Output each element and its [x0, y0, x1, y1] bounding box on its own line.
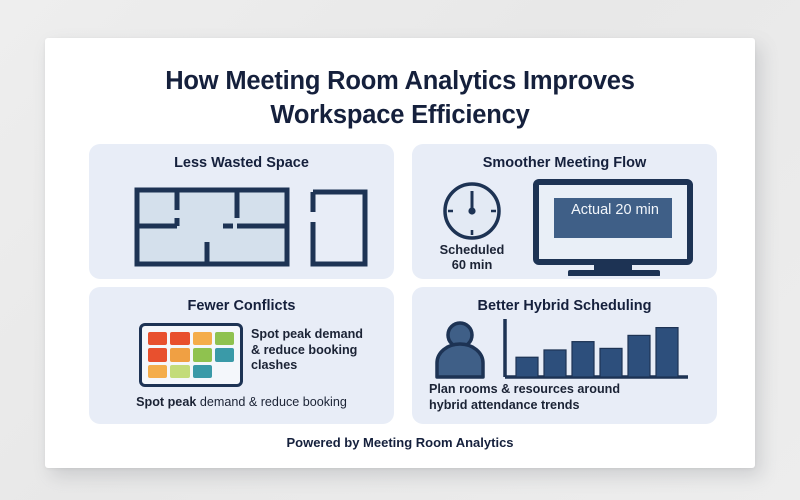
heatmap-cell: [193, 365, 212, 378]
panel-3-caption-line3: clashes: [251, 358, 297, 372]
screen-text: Actual 20 min: [545, 202, 685, 218]
heatmap-cell: [193, 348, 212, 361]
panel-4-caption: Plan rooms & resources around hybrid att…: [429, 382, 679, 413]
heatmap-cell: [215, 365, 234, 378]
monitor-icon: [532, 178, 704, 279]
panel-less-wasted-space[interactable]: Less Wasted Space: [89, 144, 394, 279]
heatmap-cell: [215, 332, 234, 345]
heatmap-cell: [170, 348, 189, 361]
heatmap-cell: [170, 332, 189, 345]
footer-text: Powered by Meeting Room Analytics: [45, 435, 755, 450]
panel-better-hybrid-scheduling[interactable]: Better Hybrid Scheduling Plan roo: [412, 287, 717, 424]
clock-icon: [434, 180, 510, 247]
title-line-1: How Meeting Room Analytics Improves: [45, 64, 755, 98]
screenshot-stage: How Meeting Room Analytics Improves Work…: [0, 0, 800, 500]
panel-title-3: Fewer Conflicts: [89, 298, 394, 314]
bar: [572, 342, 594, 377]
infographic-card: How Meeting Room Analytics Improves Work…: [45, 38, 755, 468]
person-icon: [429, 321, 491, 386]
bar: [656, 328, 678, 377]
panel-3-caption-line2: & reduce booking: [251, 343, 357, 357]
panel-4-caption-line2: hybrid attendance trends: [429, 398, 579, 412]
clock-label-line1: Scheduled: [440, 242, 505, 257]
heatmap-cell: [193, 332, 212, 345]
panel-4-caption-line1: Plan rooms & resources around: [429, 382, 620, 396]
panel-3-bottom-bold: Spot peak: [136, 395, 196, 409]
title-line-2: Workspace Efficiency: [45, 98, 755, 132]
heatmap-grid-icon: [139, 323, 243, 387]
panel-grid: Less Wasted Space: [89, 144, 717, 424]
panel-title-4: Better Hybrid Scheduling: [412, 298, 717, 314]
panel-title-2: Smoother Meeting Flow: [412, 155, 717, 171]
panel-3-caption-line1: Spot peak demand: [251, 327, 363, 341]
bar: [516, 357, 538, 377]
clock-label: Scheduled 60 min: [424, 242, 520, 272]
page-title: How Meeting Room Analytics Improves Work…: [45, 64, 755, 132]
panel-title-1: Less Wasted Space: [89, 155, 394, 171]
clock-label-line2: 60 min: [452, 257, 493, 272]
heatmap-cell: [148, 348, 167, 361]
panel-smoother-meeting-flow[interactable]: Smoother Meeting Flow Scheduled 60 min: [412, 144, 717, 279]
heatmap-cell: [148, 332, 167, 345]
panel-3-caption: Spot peak demand & reduce booking clashe…: [251, 327, 391, 374]
bar: [544, 350, 566, 377]
floor-plan-icon: [89, 176, 394, 279]
panel-3-bottom-caption: Spot peak demand & reduce booking: [89, 395, 394, 411]
heatmap-cell: [170, 365, 189, 378]
heatmap-cell: [215, 348, 234, 361]
heatmap-cell: [148, 365, 167, 378]
bar: [600, 348, 622, 377]
bar: [628, 335, 650, 377]
bar-chart-icon: [500, 317, 692, 388]
panel-3-bottom-rest: demand & reduce booking: [196, 395, 347, 409]
panel-fewer-conflicts[interactable]: Fewer Conflicts Spot peak demand & reduc…: [89, 287, 394, 424]
